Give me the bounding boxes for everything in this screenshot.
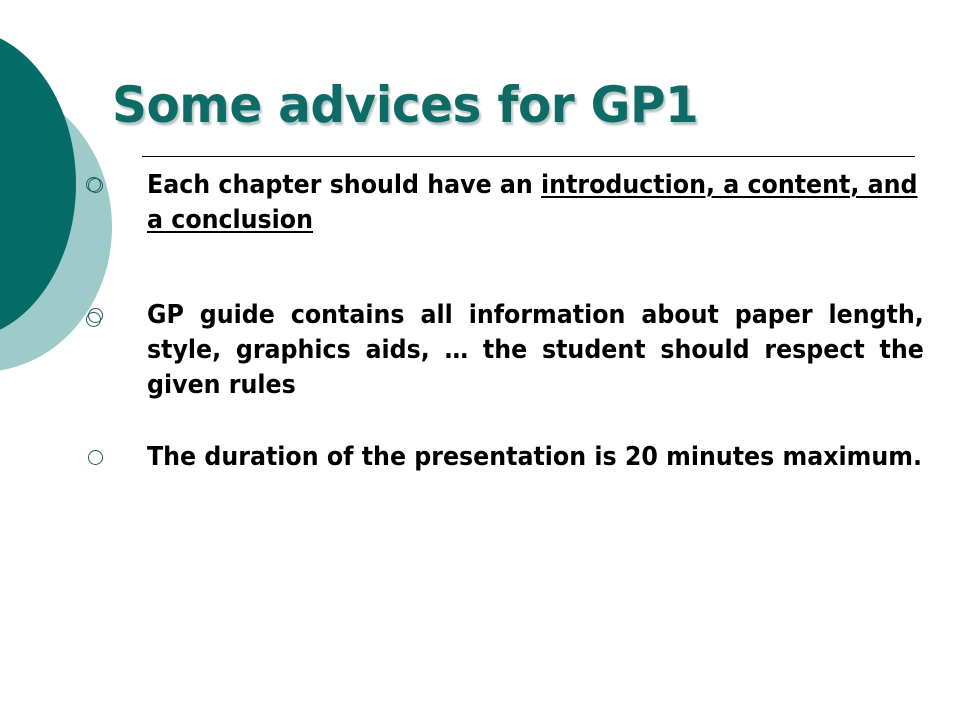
spacer-2 [84, 403, 924, 440]
list-item-3: The duration of the presentation is 20 m… [84, 440, 924, 475]
bullet-2-text: GP guide contains all information about … [147, 298, 924, 403]
slide-title: Some advices for GP1 [112, 74, 907, 136]
slide-canvas: Some advices for GP1 Each chapter should… [0, 0, 960, 720]
spacer-1 [84, 238, 924, 298]
title-block: Some advices for GP1 [112, 74, 932, 146]
bullet-circle-icon-1 [88, 178, 103, 193]
list-item-2: GP guide contains all information about … [84, 298, 924, 403]
bullet-3-text: The duration of the presentation is 20 m… [147, 440, 924, 475]
bullet-circle-icon-3 [88, 450, 103, 465]
bullet-1-text: Each chapter should have an introduction… [147, 168, 924, 238]
bullet-list: Each chapter should have an introduction… [84, 168, 924, 475]
list-item-1: Each chapter should have an introduction… [84, 168, 924, 238]
title-divider-line [142, 156, 915, 157]
bullet-1-plain: Each chapter should have an [147, 170, 541, 200]
bullet-circle-icon-2 [88, 308, 103, 323]
dark-teal-circle-shape [0, 28, 76, 340]
